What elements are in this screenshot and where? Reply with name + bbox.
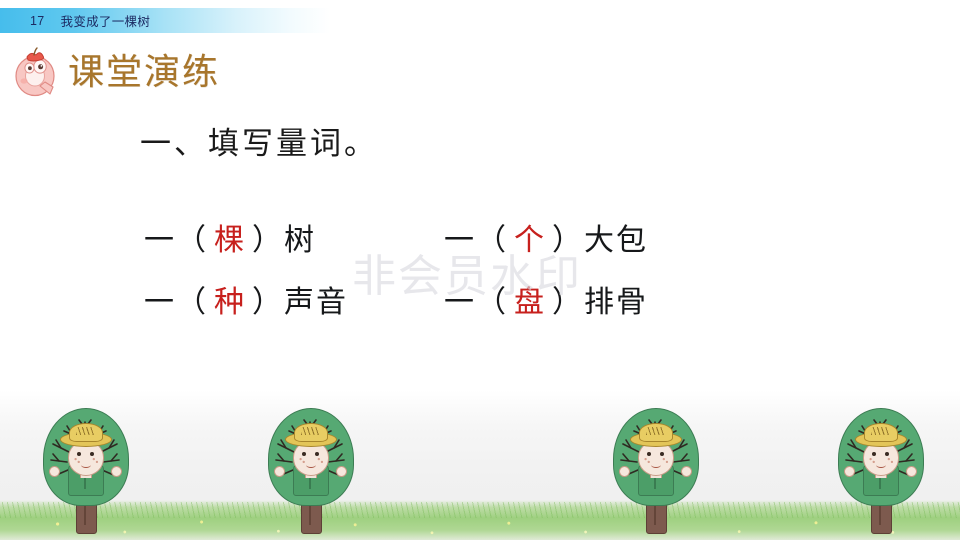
tree-person-figure xyxy=(262,406,358,534)
straw-hat-texture xyxy=(871,427,889,435)
close-paren: ） xyxy=(552,286,584,319)
mouth xyxy=(306,462,316,468)
answer-blank[interactable]: 个 xyxy=(508,224,552,257)
hand-left xyxy=(49,466,60,477)
open-paren: （ xyxy=(176,224,208,257)
lesson-header: 17 我变成了一棵树 xyxy=(0,8,330,33)
answer-row: 一（棵）树 一（个）大包 xyxy=(144,215,784,277)
answer-item: 一（盘）排骨 xyxy=(444,277,648,321)
straw-hat-texture xyxy=(646,427,664,435)
straw-hat-texture xyxy=(301,427,319,435)
close-paren: ） xyxy=(552,224,584,257)
tree-person-figure xyxy=(607,406,703,534)
mouth xyxy=(651,462,661,468)
open-paren: （ xyxy=(176,286,208,319)
mouth xyxy=(876,462,886,468)
tree-person-figure xyxy=(832,406,928,534)
slide-canvas: 17 我变成了一棵树 课堂演练 一、填写量词。 xyxy=(0,0,960,540)
hand-left xyxy=(619,466,630,477)
quantity-one: 一 xyxy=(444,224,476,257)
answer-blank[interactable]: 棵 xyxy=(208,224,252,257)
exercise-heading: 一、填写量词。 xyxy=(140,118,378,163)
eye-right xyxy=(660,452,664,456)
hand-left xyxy=(844,466,855,477)
eye-right xyxy=(885,452,889,456)
eye-left xyxy=(872,452,876,456)
eye-left xyxy=(647,452,651,456)
answer-item: 一（个）大包 xyxy=(444,215,648,259)
noun: 声音 xyxy=(284,286,348,319)
quantity-one: 一 xyxy=(444,286,476,319)
answer-blank[interactable]: 盘 xyxy=(508,286,552,319)
straw-hat-texture xyxy=(76,427,94,435)
tree-person-figure xyxy=(37,406,133,534)
open-paren: （ xyxy=(476,286,508,319)
answer-blank[interactable]: 种 xyxy=(208,286,252,319)
noun: 排骨 xyxy=(584,286,648,319)
grass-blades xyxy=(0,502,960,518)
section-title-row: 课堂演练 xyxy=(10,44,220,100)
hand-right xyxy=(111,466,122,477)
eye-left xyxy=(302,452,306,456)
answer-item: 一（种）声音 xyxy=(144,277,444,321)
noun: 树 xyxy=(284,224,316,257)
hand-left xyxy=(274,466,285,477)
tree-people-row xyxy=(0,390,960,540)
open-paren: （ xyxy=(476,224,508,257)
answer-item: 一（棵）树 xyxy=(144,215,444,259)
q-mascot-icon xyxy=(10,46,60,98)
eye-right xyxy=(90,452,94,456)
quantity-one: 一 xyxy=(144,224,176,257)
mouth xyxy=(81,462,91,468)
close-paren: ） xyxy=(252,224,284,257)
hand-right xyxy=(906,466,917,477)
answer-row: 一（种）声音 一（盘）排骨 xyxy=(144,277,784,339)
noun: 大包 xyxy=(584,224,648,257)
lesson-number: 17 xyxy=(30,14,45,28)
lesson-title: 我变成了一棵树 xyxy=(61,11,151,30)
answer-rows: 一（棵）树 一（个）大包 一（种）声音 一（盘）排骨 xyxy=(144,215,784,339)
hand-right xyxy=(336,466,347,477)
quantity-one: 一 xyxy=(144,286,176,319)
hand-right xyxy=(681,466,692,477)
close-paren: ） xyxy=(252,286,284,319)
eye-right xyxy=(315,452,319,456)
section-title: 课堂演练 xyxy=(68,54,220,90)
eye-left xyxy=(77,452,81,456)
